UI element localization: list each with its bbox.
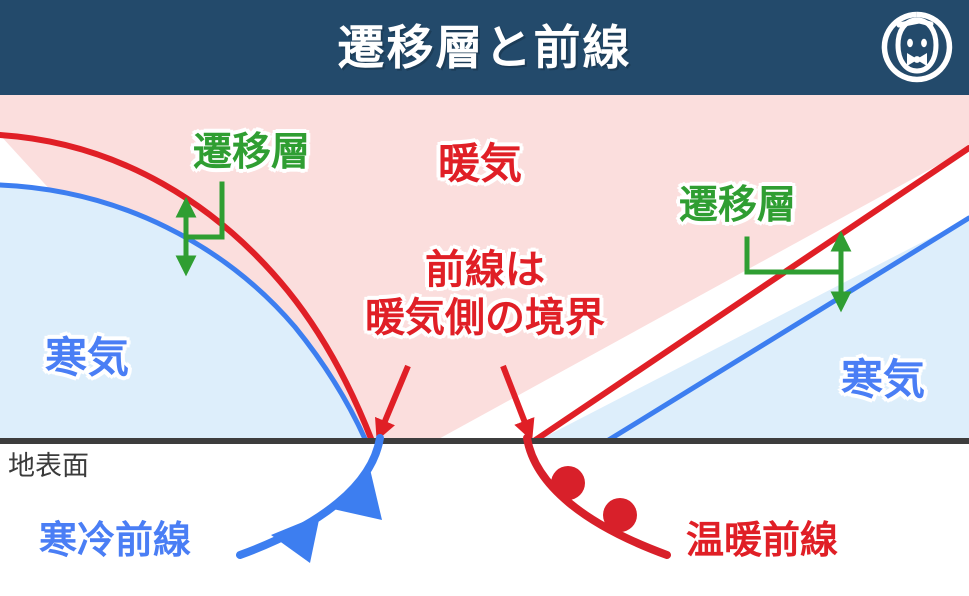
warm-front-line (527, 438, 667, 555)
cold-front-barb (271, 515, 320, 563)
warm-front-bump (551, 466, 585, 500)
cold-front-symbol (240, 438, 382, 563)
cross-section-diagram (0, 95, 969, 596)
page-header: 遷移層と前線 (0, 0, 969, 95)
diagram-page: 遷移層と前線 (0, 0, 969, 596)
warm-front-bump (603, 498, 637, 532)
penguin-circle-logo-icon (879, 9, 955, 85)
air-mass-fills (0, 95, 969, 441)
page-title: 遷移層と前線 (338, 24, 632, 71)
cold-front-barb (333, 469, 382, 520)
warm-front-symbol (527, 438, 667, 555)
